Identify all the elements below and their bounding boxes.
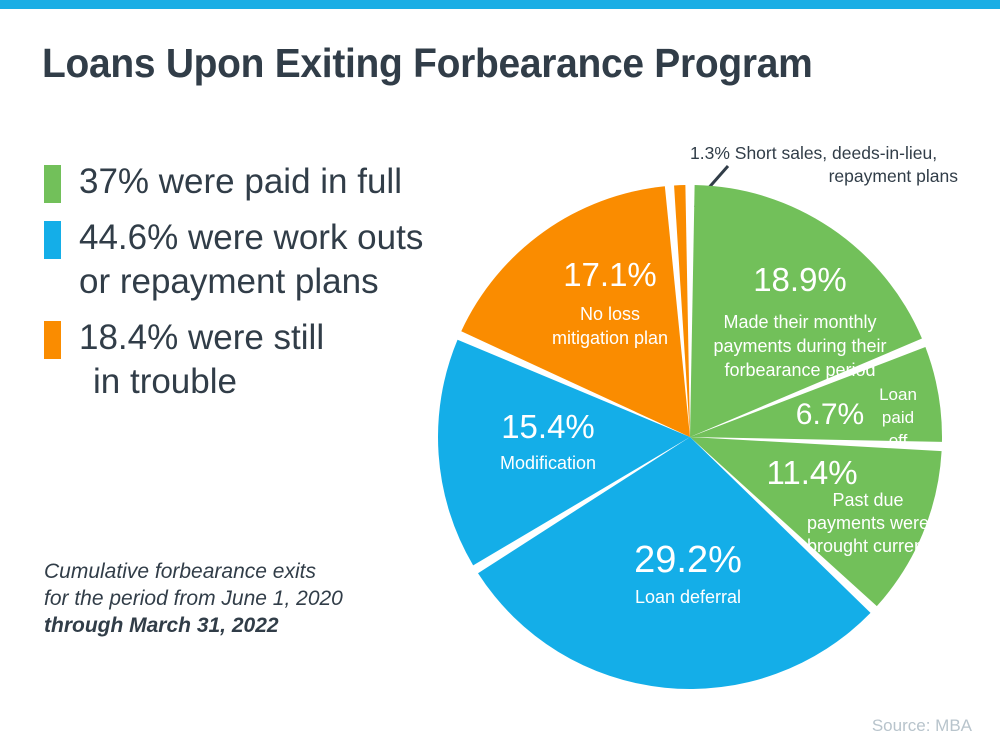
legend-line-1: 37% were paid in full	[79, 162, 402, 201]
caption-line-1: Cumulative forbearance exits	[44, 558, 444, 585]
legend-color-chip-blue	[44, 221, 61, 259]
slice-label-percent: 18.9%	[753, 261, 847, 298]
callout-line-1: Short sales, deeds-in-lieu,	[735, 143, 937, 163]
slice-label-line: Loan	[879, 385, 917, 404]
legend-color-chip-orange	[44, 321, 61, 359]
legend-item-work-outs: 44.6% were work outs or repayment plans	[44, 216, 474, 304]
slice-label-percent: 29.2%	[634, 539, 742, 581]
legend-line-1: 18.4% were still	[79, 318, 324, 357]
slice-label-line: No loss	[580, 304, 640, 324]
top-accent-bar	[0, 0, 1000, 9]
legend-line-2: or repayment plans	[79, 260, 423, 304]
slice-label-line: payments were	[807, 513, 929, 533]
legend-line-2: in trouble	[79, 360, 324, 404]
slice-label-line: Loan deferral	[635, 587, 741, 607]
slice-label-percent: 15.4%	[501, 408, 595, 445]
legend-item-still-in-trouble: 18.4% were still in trouble	[44, 316, 474, 404]
slice-label-line: brought current	[807, 536, 929, 556]
legend: 37% were paid in full 44.6% were work ou…	[44, 160, 474, 416]
pie-chart-svg: 18.9% Made their monthly payments during…	[430, 176, 960, 706]
slice-label-line: forbearance period	[724, 360, 875, 380]
infographic-canvas: Loans Upon Exiting Forbearance Program 3…	[0, 0, 1000, 750]
slice-label-percent: 17.1%	[563, 256, 657, 293]
slice-label-percent: 6.7%	[796, 398, 864, 431]
legend-item-paid-in-full: 37% were paid in full	[44, 160, 474, 204]
slice-label-line: off	[889, 431, 908, 450]
caption-line-3: through March 31, 2022	[44, 612, 444, 639]
slice-label-percent: 11.4%	[766, 454, 857, 491]
slice-label-line: Past due	[832, 490, 903, 510]
source-note: Source: MBA	[872, 716, 972, 736]
legend-color-chip-green	[44, 165, 61, 203]
slice-label-line: Made their monthly	[723, 312, 876, 332]
caption: Cumulative forbearance exits for the per…	[44, 558, 444, 639]
slice-label-line: payments during their	[713, 336, 886, 356]
legend-item-label: 18.4% were still in trouble	[79, 316, 324, 404]
legend-line-1: 44.6% were work outs	[79, 218, 423, 257]
legend-item-label: 37% were paid in full	[79, 160, 402, 204]
pie-chart: 18.9% Made their monthly payments during…	[430, 176, 960, 706]
legend-item-label: 44.6% were work outs or repayment plans	[79, 216, 423, 304]
page-title: Loans Upon Exiting Forbearance Program	[42, 40, 916, 87]
slice-label-line: paid	[882, 408, 914, 427]
caption-line-2: for the period from June 1, 2020	[44, 585, 444, 612]
slice-label-line: mitigation plan	[552, 328, 668, 348]
slice-label-line: Modification	[500, 453, 596, 473]
